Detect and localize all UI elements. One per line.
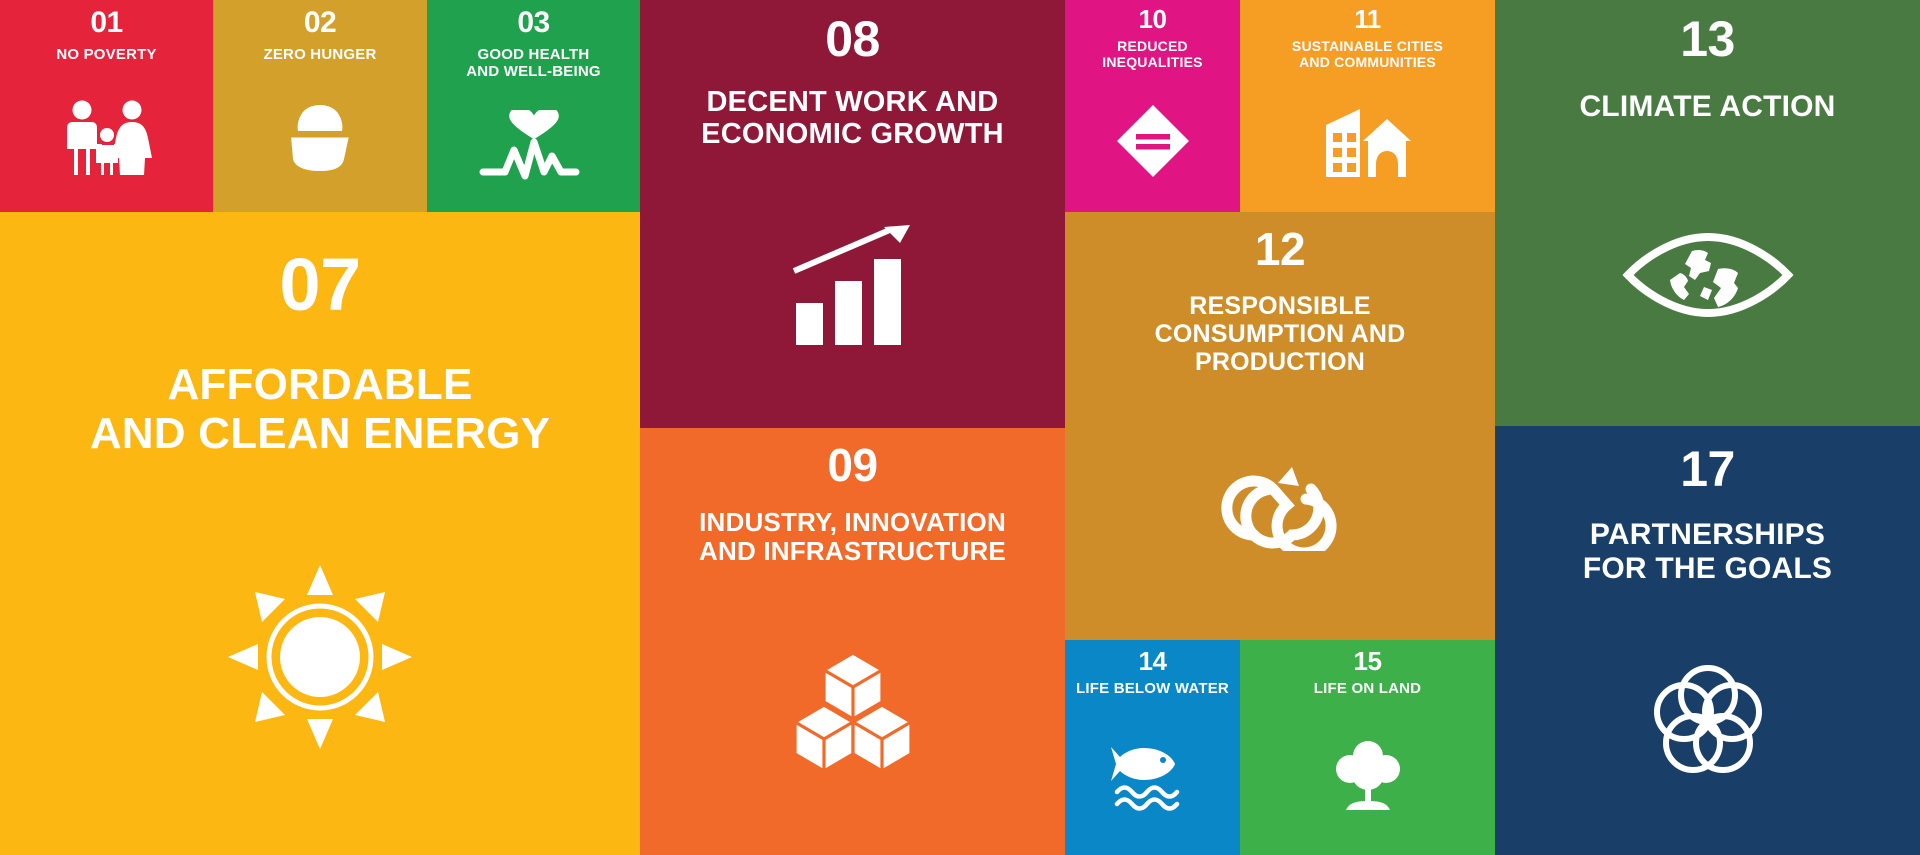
goal-tile-12[interactable]: 12 RESPONSIBLECONSUMPTION ANDPRODUCTION: [1065, 212, 1495, 640]
interlocking-circles-icon: [1643, 655, 1773, 785]
goal-icon-wrap-13: [1495, 124, 1920, 426]
infinity-loop-icon: [1210, 465, 1350, 551]
goal-number-01: 01: [90, 8, 122, 38]
goal-title-07: AFFORDABLEAND CLEAN ENERGY: [90, 360, 550, 459]
goal-title-10: REDUCEDINEQUALITIES: [1102, 39, 1202, 70]
goal-icon-wrap-07: [0, 459, 640, 855]
column-one: 01 NO POVERTY 02: [0, 0, 640, 855]
goal-number-11: 11: [1354, 6, 1381, 32]
fish-waves-icon: [1111, 740, 1195, 812]
goal-tile-02[interactable]: 02 ZERO HUNGER: [213, 0, 427, 212]
goal-number-13: 13: [1680, 14, 1735, 64]
goal-tile-01[interactable]: 01 NO POVERTY: [0, 0, 213, 212]
sun-icon: [220, 557, 420, 757]
goal-icon-wrap-14: [1065, 698, 1240, 855]
goal-icon-wrap-12: [1065, 376, 1495, 640]
goal-tile-14[interactable]: 14 LIFE BELOW WATER: [1065, 640, 1240, 855]
bar-chart-arrow-icon: [788, 225, 918, 353]
tree-icon: [1330, 738, 1406, 814]
goal-number-03: 03: [517, 8, 549, 38]
goal-icon-wrap-09: [640, 566, 1065, 855]
rice-bowl-icon: [283, 103, 357, 173]
goal-title-12: RESPONSIBLECONSUMPTION ANDPRODUCTION: [1155, 292, 1406, 376]
goal-number-08: 08: [825, 14, 880, 64]
goals-row-14-15: 14 LIFE BELOW WATER 15 LIFE ON LAND: [1065, 640, 1495, 855]
goal-title-13: CLIMATE ACTION: [1579, 90, 1835, 124]
goal-icon-wrap-02: [213, 64, 427, 212]
goal-tile-07[interactable]: 07 AFFORDABLEAND CLEAN ENERGY: [0, 212, 640, 855]
family-icon: [59, 99, 155, 177]
eye-globe-icon: [1618, 225, 1798, 325]
goal-tile-03[interactable]: 03 GOOD HEALTHAND WELL-BEING: [427, 0, 640, 212]
goal-title-02: ZERO HUNGER: [263, 47, 376, 64]
goal-title-09: INDUSTRY, INNOVATIONAND INFRASTRUCTURE: [699, 508, 1006, 566]
goal-title-14: LIFE BELOW WATER: [1076, 681, 1229, 698]
goal-number-14: 14: [1139, 648, 1167, 674]
goal-icon-wrap-17: [1495, 585, 1920, 855]
goal-tile-17[interactable]: 17 PARTNERSHIPSFOR THE GOALS: [1495, 426, 1920, 855]
goal-tile-15[interactable]: 15 LIFE ON LAND: [1240, 640, 1495, 855]
goal-title-17: PARTNERSHIPSFOR THE GOALS: [1583, 518, 1832, 585]
goals-row-1-3: 01 NO POVERTY 02: [0, 0, 640, 212]
column-four: 13 CLIMATE ACTION 17 PARTNERSHIPSFOR THE…: [1495, 0, 1920, 855]
goal-tile-09[interactable]: 09 INDUSTRY, INNOVATIONAND INFRASTRUCTUR…: [640, 428, 1065, 855]
heart-ecg-icon: [479, 110, 589, 182]
goal-icon-wrap-11: [1240, 70, 1495, 212]
goal-icon-wrap-08: [640, 151, 1065, 428]
goal-icon-wrap-03: [427, 81, 640, 212]
goal-tile-11[interactable]: 11 SUSTAINABLE CITIESAND COMMUNITIES: [1240, 0, 1495, 212]
goal-title-15: LIFE ON LAND: [1314, 681, 1421, 698]
goal-number-10: 10: [1139, 6, 1167, 32]
column-three: 10 REDUCEDINEQUALITIES 11 SUSTAINABLE CI…: [1065, 0, 1495, 855]
goals-row-10-11: 10 REDUCEDINEQUALITIES 11 SUSTAINABLE CI…: [1065, 0, 1495, 212]
goal-number-09: 09: [827, 442, 877, 488]
buildings-icon: [1322, 103, 1414, 179]
goal-icon-wrap-01: [0, 64, 213, 212]
sdg-tile-board: 01 NO POVERTY 02: [0, 0, 1920, 855]
goal-title-01: NO POVERTY: [56, 47, 156, 64]
goal-number-17: 17: [1680, 444, 1735, 494]
goal-number-15: 15: [1354, 648, 1382, 674]
goal-number-12: 12: [1255, 226, 1305, 272]
goal-number-07: 07: [279, 248, 360, 322]
column-two: 08 DECENT WORK ANDECONOMIC GROWTH 09 IND…: [640, 0, 1065, 855]
equals-diamond-icon: [1115, 103, 1191, 179]
goal-tile-13[interactable]: 13 CLIMATE ACTION: [1495, 0, 1920, 426]
goal-title-03: GOOD HEALTHAND WELL-BEING: [466, 47, 600, 81]
cubes-icon: [791, 649, 915, 773]
goal-title-08: DECENT WORK ANDECONOMIC GROWTH: [701, 86, 1004, 151]
goal-tile-08[interactable]: 08 DECENT WORK ANDECONOMIC GROWTH: [640, 0, 1065, 428]
goal-title-11: SUSTAINABLE CITIESAND COMMUNITIES: [1292, 39, 1443, 70]
goal-tile-10[interactable]: 10 REDUCEDINEQUALITIES: [1065, 0, 1240, 212]
goal-icon-wrap-15: [1240, 698, 1495, 855]
goal-icon-wrap-10: [1065, 70, 1240, 212]
goal-number-02: 02: [304, 8, 336, 38]
